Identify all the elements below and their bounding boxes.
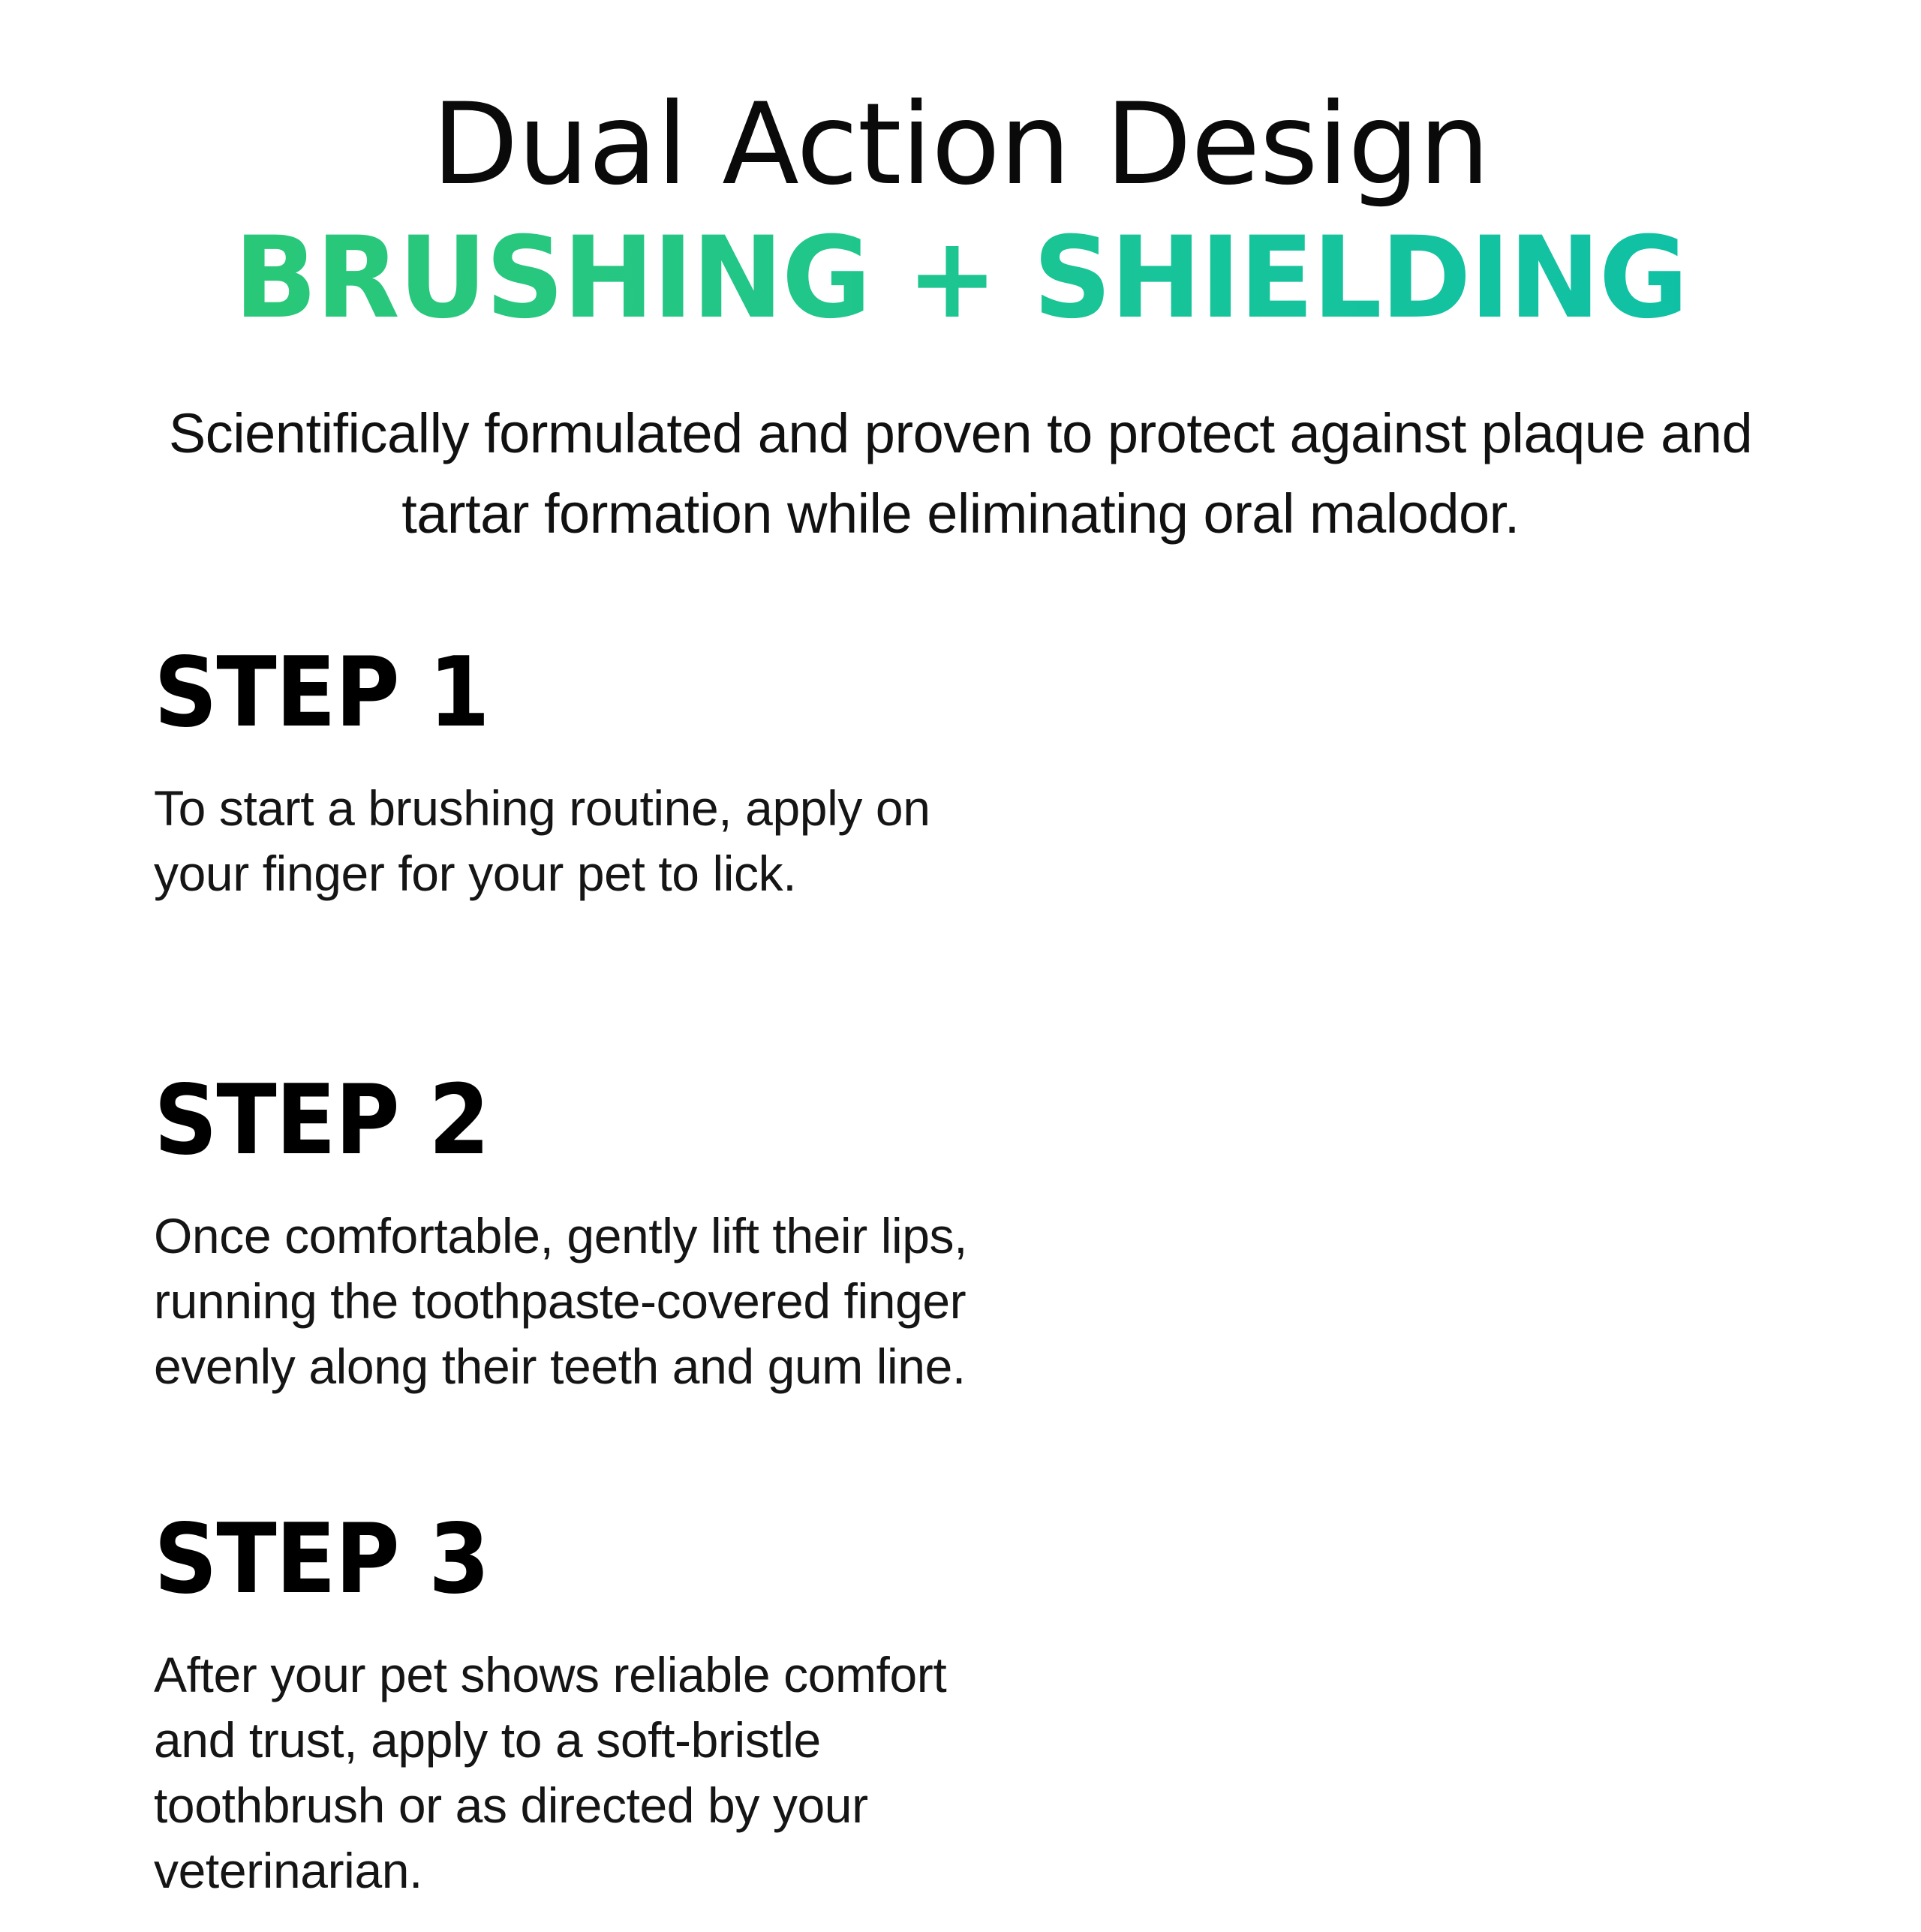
- step-3-body-line-2: and trust, apply to a soft-bristle: [154, 1708, 1051, 1773]
- step-3-body-line-1: After your pet shows reliable comfort: [154, 1642, 1051, 1708]
- step-2-text: STEP 2 Once comfortable, gently lift the…: [0, 1073, 1081, 1399]
- step-1-heading: STEP 1: [154, 645, 979, 741]
- steps-section: STEP 1 To start a brushing routine, appl…: [0, 645, 1921, 1932]
- step-3-body: After your pet shows reliable comfort an…: [154, 1642, 1051, 1903]
- step-3-body-line-4: veterinarian.: [154, 1838, 1051, 1903]
- step-2-body-line-2: running the toothpaste-covered finger: [154, 1269, 1051, 1334]
- step-3-text: STEP 3 After your pet shows reliable com…: [0, 1512, 1081, 1903]
- step-1-body-line-2: your finger for your pet to lick.: [154, 841, 1051, 906]
- step-1-body: To start a brushing routine, apply on yo…: [154, 776, 1051, 906]
- infographic-page: Dual Action Design BRUSHING + SHIELDING …: [0, 0, 1921, 1921]
- step-row: STEP 1 To start a brushing routine, appl…: [0, 645, 1921, 1073]
- step-1-text: STEP 1 To start a brushing routine, appl…: [0, 645, 1081, 906]
- page-subtitle-gradient: BRUSHING + SHIELDING: [29, 218, 1892, 339]
- step-2-body-line-3: evenly along their teeth and gum line.: [154, 1334, 1051, 1399]
- step-2-body-line-1: Once comfortable, gently lift their lips…: [154, 1203, 1051, 1269]
- step-2-body: Once comfortable, gently lift their lips…: [154, 1203, 1051, 1399]
- step-3-body-line-3: toothbrush or as directed by your: [154, 1773, 1051, 1838]
- step-row: STEP 3 After your pet shows reliable com…: [0, 1512, 1921, 1932]
- intro-line-1: Scientifically formulated and proven to …: [169, 402, 1646, 464]
- step-3-heading: STEP 3: [154, 1512, 979, 1608]
- intro-paragraph: Scientifically formulated and proven to …: [143, 393, 1778, 554]
- step-1-body-line-1: To start a brushing routine, apply on: [154, 776, 1051, 841]
- step-2-heading: STEP 2: [154, 1073, 979, 1169]
- page-title: Dual Action Design: [0, 0, 1921, 201]
- step-row: STEP 2 Once comfortable, gently lift the…: [0, 1073, 1921, 1512]
- header: Dual Action Design BRUSHING + SHIELDING …: [0, 0, 1921, 554]
